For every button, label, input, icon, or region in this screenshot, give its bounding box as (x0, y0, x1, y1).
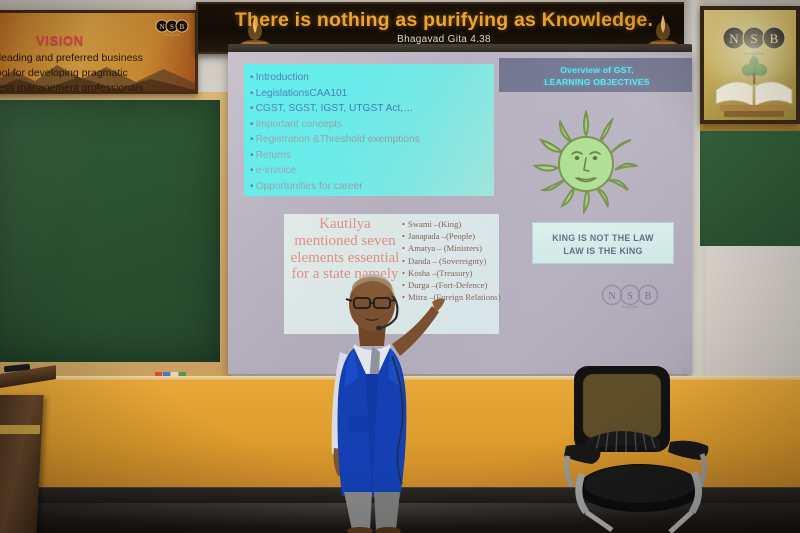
svg-text:N: N (159, 23, 164, 31)
agenda-item-concepts: Important concepts (250, 117, 494, 133)
objectives-line-1: Overview of GST, (499, 58, 692, 76)
vision-line-3: iness management professionals (0, 81, 195, 94)
chair-leg-front-left (586, 512, 612, 530)
svg-text:N: N (608, 291, 615, 302)
learning-objectives-header: Overview of GST, LEARNING OBJECTIVES (499, 58, 692, 92)
kautilya-element-swami: Swami –(King) (402, 218, 532, 230)
chair-leg-front-right (670, 512, 692, 532)
agenda-item-introduction: Introduction (250, 70, 494, 86)
pointing-arm (392, 306, 439, 356)
svg-text:S: S (170, 23, 174, 31)
speaker-presenter (296, 248, 446, 533)
chalkboard-frame (0, 92, 230, 382)
forehead (352, 277, 392, 299)
vision-statement: a leading and preferred business hool fo… (0, 51, 195, 94)
svg-text:B: B (645, 291, 652, 302)
vision-title: VISION (36, 33, 84, 48)
vision-line-1: a leading and preferred business (0, 51, 195, 66)
nsb-logo-watermark: N S B Bangalore (599, 284, 661, 310)
green-chalkboard (0, 100, 220, 362)
agenda-item-opportunities: Opportunities for career (250, 179, 494, 195)
svg-text:Bangalore: Bangalore (164, 33, 180, 37)
agenda-list: Introduction LegislationsCAA101 CGST, SG… (244, 64, 494, 194)
king-law-line-1: KING IS NOT THE LAW (533, 223, 673, 245)
chalkboard-sheen (0, 100, 220, 362)
lecture-hall-photo: VISION a leading and preferred business … (0, 0, 800, 533)
chair-seat-cushion (584, 465, 696, 503)
objectives-line-2: LEARNING OBJECTIVES (499, 76, 692, 88)
chair-arm-post-left (567, 456, 572, 486)
svg-text:S: S (627, 291, 633, 302)
podium-cable (38, 388, 41, 528)
king-law-callout: KING IS NOT THE LAW LAW IS THE KING (532, 222, 674, 264)
king-law-line-2: LAW IS THE KING (533, 245, 673, 258)
agenda-item-registration: Registration &Threshold exemptions (250, 132, 494, 148)
svg-text:B: B (180, 23, 185, 31)
vision-line-2: hool for developing pragmatic (0, 66, 195, 81)
trouser-left (344, 492, 372, 530)
agenda-item-einvoice: e-invoice (250, 163, 494, 179)
agenda-panel: Introduction LegislationsCAA101 CGST, SG… (244, 64, 494, 196)
kautilya-element-janapada: Janapada –(People) (402, 230, 532, 242)
agenda-item-acts: CGST, SGST, IGST, UTGST Act,… (250, 101, 494, 117)
chair-mesh (583, 374, 661, 438)
nsb-logo-icon: N S B Bangalore (155, 19, 189, 37)
office-chair (552, 362, 722, 533)
sun-with-face-icon (532, 110, 640, 214)
agenda-item-legislations: LegislationsCAA101 (250, 86, 494, 102)
quote-text: There is nothing as purifying as Knowled… (198, 9, 690, 32)
right-green-board (700, 131, 800, 246)
vision-banner: VISION a leading and preferred business … (0, 10, 198, 94)
trouser-right (374, 492, 400, 530)
agenda-item-returns: Returns (250, 148, 494, 164)
jacket-pocket (348, 416, 370, 432)
svg-text:Bangalore: Bangalore (622, 305, 638, 309)
poster-glow (704, 10, 796, 120)
podium-trim (0, 425, 40, 434)
nsb-poster: N S B Bangalore (700, 6, 800, 124)
